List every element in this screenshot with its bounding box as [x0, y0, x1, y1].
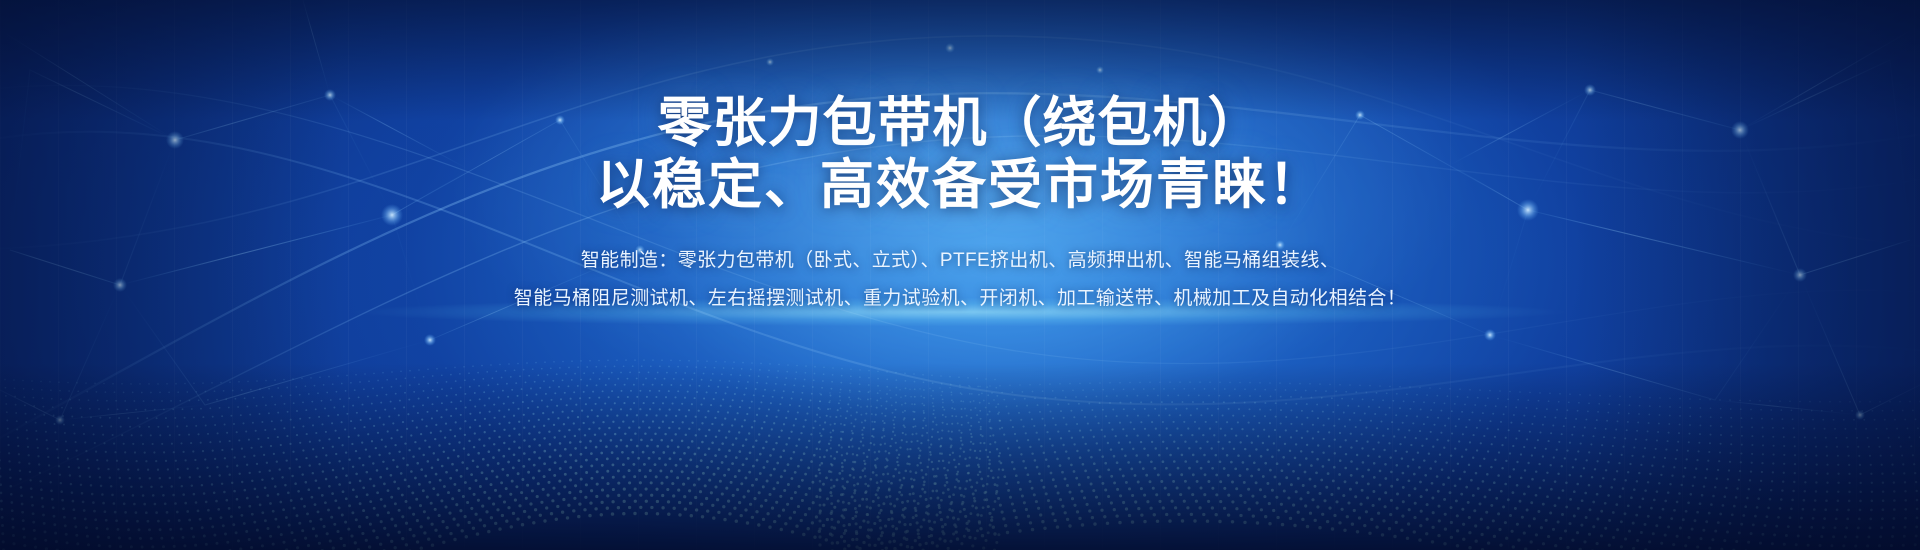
- subcopy-line-1: 智能制造：零张力包带机（卧式、立式）、PTFE挤出机、高频押出机、智能马桶组装线…: [0, 242, 1920, 280]
- subcopy: 智能制造：零张力包带机（卧式、立式）、PTFE挤出机、高频押出机、智能马桶组装线…: [0, 242, 1920, 318]
- subcopy-line-2: 智能马桶阻尼测试机、左右摇摆测试机、重力试验机、开闭机、加工输送带、机械加工及自…: [0, 280, 1920, 318]
- background-particle-mesh-right: [818, 381, 1920, 550]
- hero-banner: 零张力包带机（绕包机） 以稳定、高效备受市场青睐！ 智能制造：零张力包带机（卧式…: [0, 0, 1920, 550]
- background-particle-mesh-left: [0, 359, 1001, 550]
- headline-line-2: 以稳定、高效备受市场青睐！: [0, 154, 1920, 216]
- banner-content: 零张力包带机（绕包机） 以稳定、高效备受市场青睐！ 智能制造：零张力包带机（卧式…: [0, 92, 1920, 318]
- headline-line-1: 零张力包带机（绕包机）: [0, 92, 1920, 154]
- headline: 零张力包带机（绕包机） 以稳定、高效备受市场青睐！: [0, 92, 1920, 216]
